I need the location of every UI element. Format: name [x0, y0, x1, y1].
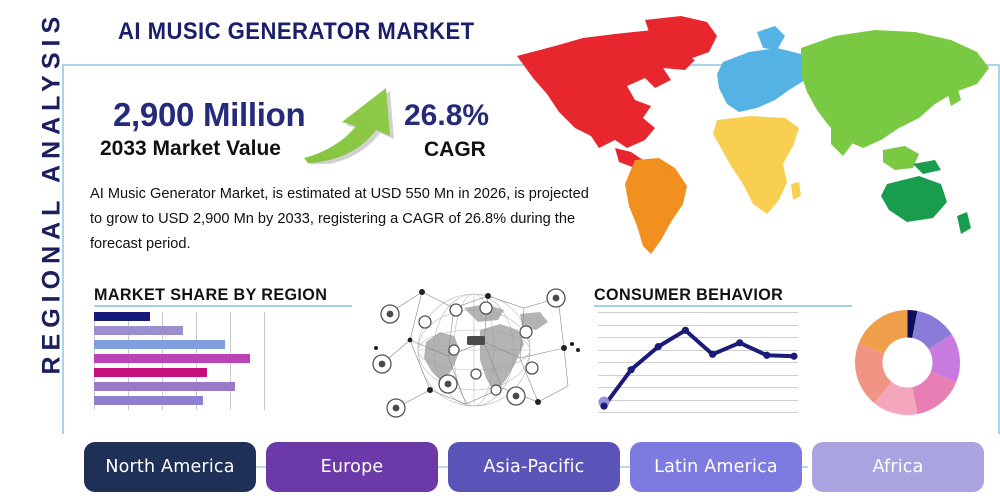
map-region-africa: [713, 116, 799, 214]
regional-analysis-side-label: REGIONAL ANALYSIS: [38, 35, 67, 375]
gridline: [598, 412, 798, 413]
data-point: [709, 351, 716, 358]
region-button-label: Latin America: [654, 457, 778, 477]
map-region-australia: [881, 176, 947, 222]
global-network-globe-icon: [368, 278, 580, 423]
consumer-behavior-line-chart: [598, 312, 798, 412]
region-button-label: Africa: [872, 457, 923, 477]
bar-row: [94, 326, 183, 335]
data-point: [600, 403, 607, 410]
data-point: [736, 339, 743, 346]
market-share-section-title: MARKET SHARE BY REGION: [94, 285, 327, 305]
region-button-north-america[interactable]: North America: [84, 442, 256, 492]
cagr-label: CAGR: [424, 138, 486, 162]
region-button-asia-pacific[interactable]: Asia-Pacific: [448, 442, 620, 492]
market-share-rule: [94, 305, 352, 307]
bar-row: [94, 354, 250, 363]
region-button-latin-america[interactable]: Latin America: [630, 442, 802, 492]
data-point: [790, 353, 797, 360]
data-point: [628, 366, 635, 373]
bar-row: [94, 382, 235, 391]
bar-row: [94, 340, 225, 349]
map-region-southeast-asia: [883, 146, 919, 170]
map-region-scandinavia: [757, 26, 785, 50]
region-button-label: Europe: [321, 457, 384, 477]
regional-donut-chart: [855, 310, 960, 415]
map-region-madagascar: [791, 182, 801, 200]
region-button-europe[interactable]: Europe: [266, 442, 438, 492]
map-region-papua: [913, 160, 941, 174]
bar-row: [94, 312, 150, 321]
region-button-africa[interactable]: Africa: [812, 442, 984, 492]
data-point: [763, 352, 770, 359]
map-region-south-america: [625, 158, 687, 254]
region-button-label: Asia-Pacific: [483, 457, 584, 477]
map-region-new-zealand: [957, 212, 971, 234]
growth-arrow-icon: [298, 82, 402, 164]
consumer-behavior-section-title: CONSUMER BEHAVIOR: [594, 285, 783, 305]
consumer-behavior-rule: [594, 305, 852, 307]
cagr-number: 26.8%: [404, 99, 489, 133]
bar-row: [94, 396, 203, 405]
data-point: [655, 343, 662, 350]
market-value-label: 2033 Market Value: [100, 137, 281, 161]
data-point: [682, 327, 689, 334]
infographic-canvas: REGIONAL ANALYSIS AI MUSIC GENERATOR MAR…: [0, 0, 1000, 500]
map-region-india: [831, 122, 855, 156]
world-map-icon: [495, 8, 1000, 266]
map-region-asia: [801, 30, 989, 148]
region-button-bar: North AmericaEuropeAsia-PacificLatin Ame…: [84, 442, 984, 492]
market-share-bar-chart: [94, 312, 266, 410]
region-button-label: North America: [105, 457, 234, 477]
market-value-number: 2,900 Million: [113, 96, 305, 134]
page-title: AI MUSIC GENERATOR MARKET: [118, 18, 475, 46]
bar-row: [94, 368, 207, 377]
